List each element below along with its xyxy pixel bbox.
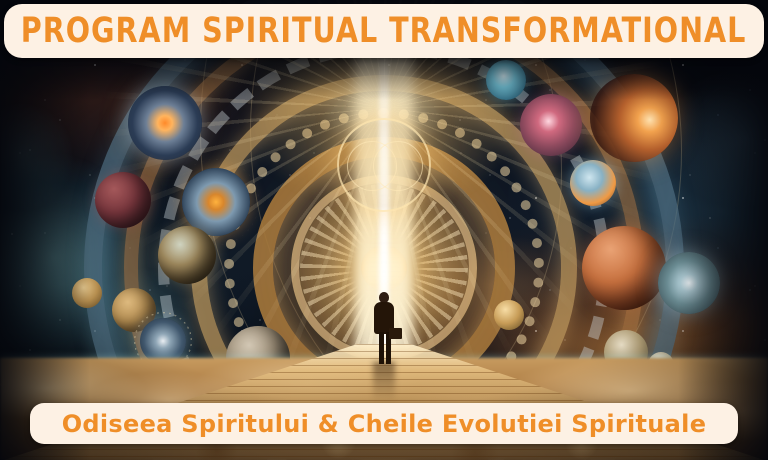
subtitle-banner: Odiseea Spiritului & Cheile Evolutiei Sp… <box>30 403 738 444</box>
edge-darkening-overlay <box>0 0 768 460</box>
title-banner: PROGRAM SPIRITUAL TRANSFORMATIONAL <box>4 4 764 58</box>
page-title: PROGRAM SPIRITUAL TRANSFORMATIONAL <box>21 14 747 49</box>
page-subtitle: Odiseea Spiritului & Cheile Evolutiei Sp… <box>62 412 707 436</box>
poster-canvas: PROGRAM SPIRITUAL TRANSFORMATIONAL Odise… <box>0 0 768 460</box>
